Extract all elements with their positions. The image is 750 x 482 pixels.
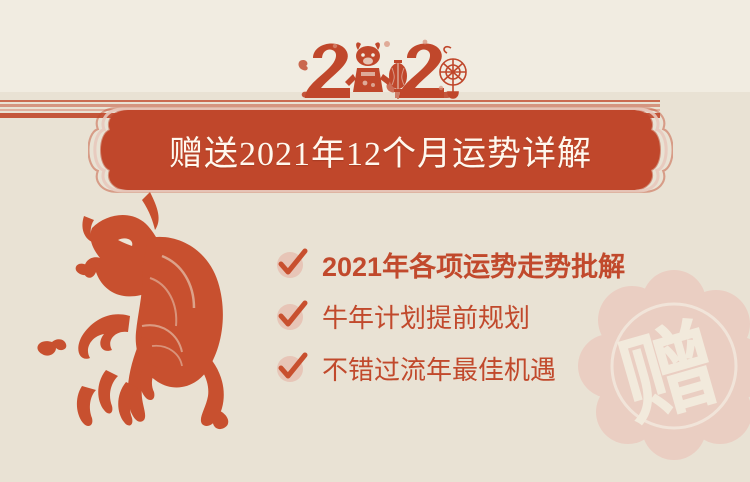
page-title: 赠送2021年12个月运势详解 [88,104,673,196]
check-icon [276,247,310,281]
year-decoration [295,30,475,102]
check-icon [276,351,310,385]
promo-banner-stage: 赠送2021年12个月运势详解 [0,0,750,482]
check-icon [276,299,310,333]
list-item: 不错过流年最佳机遇 [276,342,696,394]
list-item: 2021年各项运势走势批解 [276,238,696,290]
benefit-list: 2021年各项运势走势批解 牛年计划提前规划 不错过流年最佳机遇 [276,238,696,394]
list-item-label: 牛年计划提前规划 [322,298,530,335]
list-item-label: 2021年各项运势走势批解 [322,245,625,284]
list-item-label: 不错过流年最佳机遇 [322,350,556,387]
ox-mascot-icon [345,42,391,92]
list-item: 牛年计划提前规划 [276,290,696,342]
charging-bull-icon [22,186,262,448]
